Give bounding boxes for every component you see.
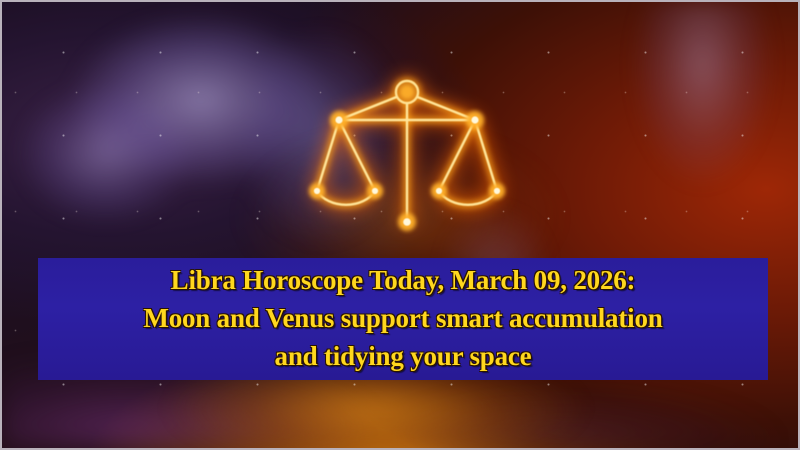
libra-scales-icon: [309, 64, 505, 244]
headline-line-1: Libra Horoscope Today, March 09, 2026:: [171, 261, 636, 299]
headline-line-2: Moon and Venus support smart accumulatio…: [143, 299, 662, 337]
headline-line-3: and tidying your space: [275, 337, 532, 375]
headline-banner: Libra Horoscope Today, March 09, 2026: M…: [38, 258, 768, 380]
horoscope-poster: Libra Horoscope Today, March 09, 2026: M…: [0, 0, 800, 450]
